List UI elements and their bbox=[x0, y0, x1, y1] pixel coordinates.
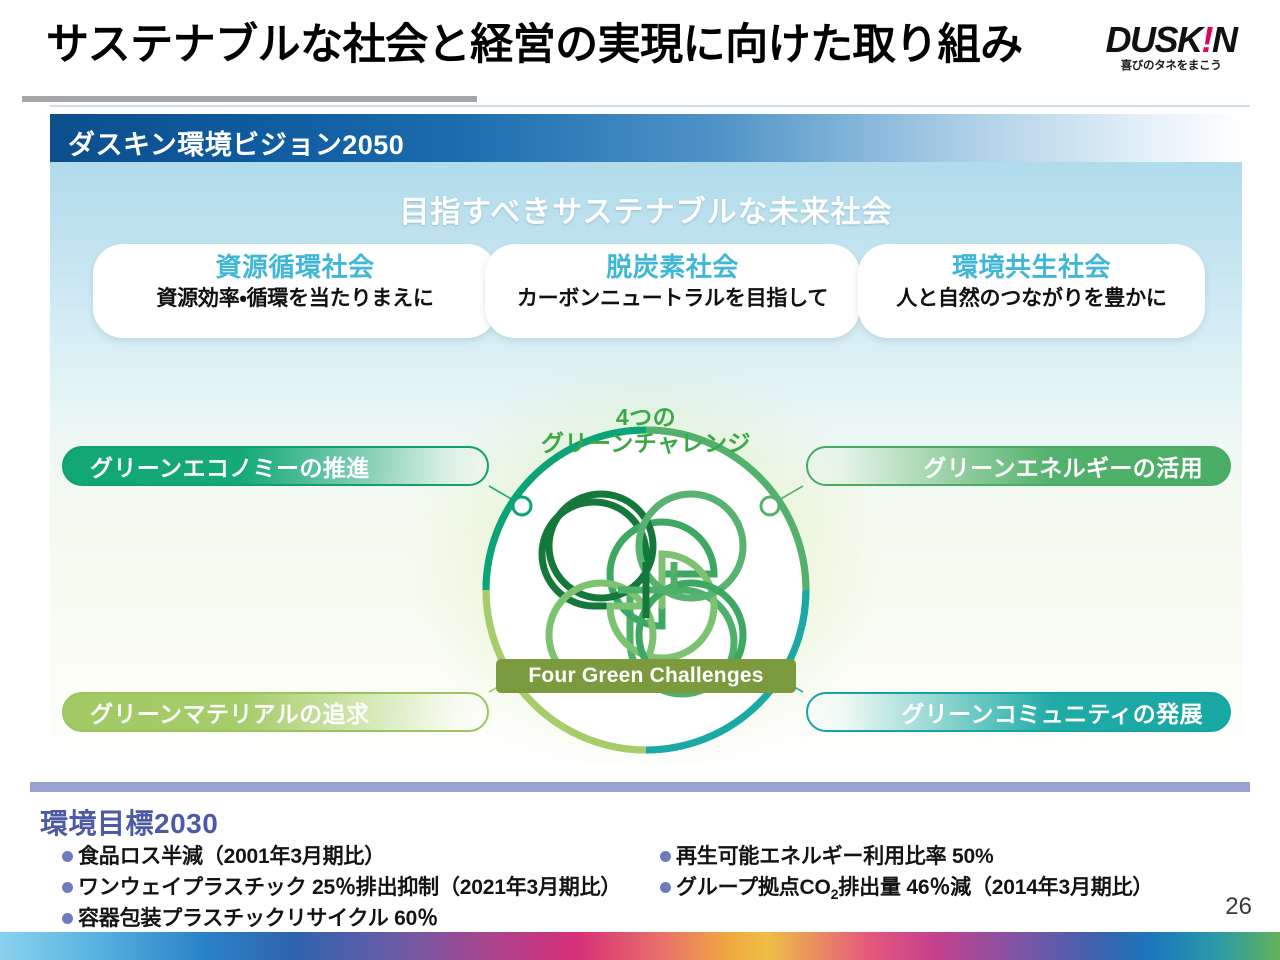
title-divider bbox=[22, 96, 477, 102]
society-card-title: 環境共生社会 bbox=[858, 250, 1205, 285]
goal-item: 食品ロス半減（2001年3月期比） bbox=[62, 842, 621, 873]
bullet-icon bbox=[62, 913, 73, 924]
vision-headline: 目指すべきサステナブルな未来社会 bbox=[50, 187, 1242, 231]
environment-vision-panel: ダスキン環境ビジョン2050 目指すべきサステナブルな未来社会 資源循環社会 資… bbox=[50, 114, 1242, 764]
four-green-challenges-badge-label: Four Green Challenges bbox=[528, 664, 763, 688]
wordmark-pre: DUSK bbox=[1105, 19, 1201, 60]
bullet-icon bbox=[660, 882, 671, 893]
society-card-title: 脱炭素社会 bbox=[485, 250, 860, 285]
challenge-pill-green-community[interactable]: グリーンコミュニティの発展 bbox=[806, 692, 1231, 732]
duskin-tagline: 喜びのタネをまこう bbox=[1080, 61, 1262, 73]
page-number: 26 bbox=[1225, 893, 1252, 921]
vision-body: 目指すべきサステナブルな未来社会 資源循環社会 資源効率・循環を当たりまえに 脱… bbox=[50, 162, 1242, 764]
vision-section-label: ダスキン環境ビジョン2050 bbox=[68, 123, 404, 162]
goals-divider bbox=[30, 782, 1250, 792]
society-card-title: 資源循環社会 bbox=[93, 250, 497, 285]
goal-item-text: 食品ロス半減（2001年3月期比） bbox=[78, 845, 385, 868]
title-divider-thin bbox=[50, 105, 1250, 107]
sdg-rainbow-strip bbox=[0, 932, 1280, 960]
bullet-icon bbox=[62, 851, 73, 862]
challenge-pill-green-economy[interactable]: グリーンエコノミーの推進 bbox=[62, 446, 489, 486]
challenge-pill-label: グリーンマテリアルの追求 bbox=[90, 695, 369, 729]
society-card-subtitle: 人と自然のつながりを豊かに bbox=[858, 285, 1205, 312]
wordmark-exclamation-icon: ! bbox=[1202, 19, 1213, 60]
challenge-pill-green-material[interactable]: グリーンマテリアルの追求 bbox=[62, 692, 489, 732]
goal-item: グループ拠点CO2排出量 46％減（2014年3月期比） bbox=[660, 873, 1153, 906]
challenge-pill-label: グリーンコミュニティの発展 bbox=[901, 695, 1203, 729]
goal-item-text-pre: グループ拠点CO bbox=[676, 876, 831, 899]
challenge-pill-label: グリーンエネルギーの活用 bbox=[923, 449, 1203, 483]
goal-item-text: 容器包装プラスチックリサイクル 60％ bbox=[78, 907, 438, 930]
society-card-resource: 資源循環社会 資源効率・循環を当たりまえに bbox=[93, 244, 497, 338]
challenge-pill-label: グリーンエコノミーの推進 bbox=[90, 449, 370, 483]
duskin-logo: DUSK!N 喜びのタネをまこう bbox=[1080, 22, 1262, 73]
four-green-challenges-badge: Four Green Challenges bbox=[496, 659, 796, 693]
circle-caption-sub: グリーンチャレンジ bbox=[446, 424, 846, 458]
society-card-subtitle: 資源効率・循環を当たりまえに bbox=[93, 285, 497, 312]
goals-column-left: 食品ロス半減（2001年3月期比） ワンウェイプラスチック 25％排出抑制（20… bbox=[62, 842, 621, 935]
duskin-wordmark: DUSK!N bbox=[1080, 22, 1262, 58]
goal-item-text: ワンウェイプラスチック 25％排出抑制（2021年3月期比） bbox=[78, 876, 621, 899]
society-card-subtitle: カーボンニュートラルを目指して bbox=[485, 285, 860, 312]
goals-title: 環境目標2030 bbox=[40, 802, 218, 842]
goals-column-right: 再生可能エネルギー利用比率 50% グループ拠点CO2排出量 46％減（2014… bbox=[660, 842, 1153, 906]
page-title: サステナブルな社会と経営の実現に向けた取り組み bbox=[46, 22, 1023, 69]
goal-item: 再生可能エネルギー利用比率 50% bbox=[660, 842, 1153, 873]
goal-item: ワンウェイプラスチック 25％排出抑制（2021年3月期比） bbox=[62, 873, 621, 904]
goal-item-text: 再生可能エネルギー利用比率 50% bbox=[676, 845, 993, 868]
society-card-coexistence: 環境共生社会 人と自然のつながりを豊かに bbox=[858, 244, 1205, 338]
challenge-pill-green-energy[interactable]: グリーンエネルギーの活用 bbox=[806, 446, 1231, 486]
bullet-icon bbox=[62, 882, 73, 893]
vision-section-bar: ダスキン環境ビジョン2050 bbox=[50, 114, 1242, 162]
society-card-decarbon: 脱炭素社会 カーボンニュートラルを目指して bbox=[485, 244, 860, 338]
bullet-icon bbox=[660, 851, 671, 862]
goal-item: 容器包装プラスチックリサイクル 60％ bbox=[62, 904, 621, 935]
four-green-challenges-diagram: 4つの グリーンチャレンジ Four Green Challenges グリーン… bbox=[50, 358, 1242, 764]
wordmark-post: N bbox=[1212, 19, 1237, 60]
goal-item-text-post: 排出量 46％減（2014年3月期比） bbox=[838, 876, 1153, 899]
